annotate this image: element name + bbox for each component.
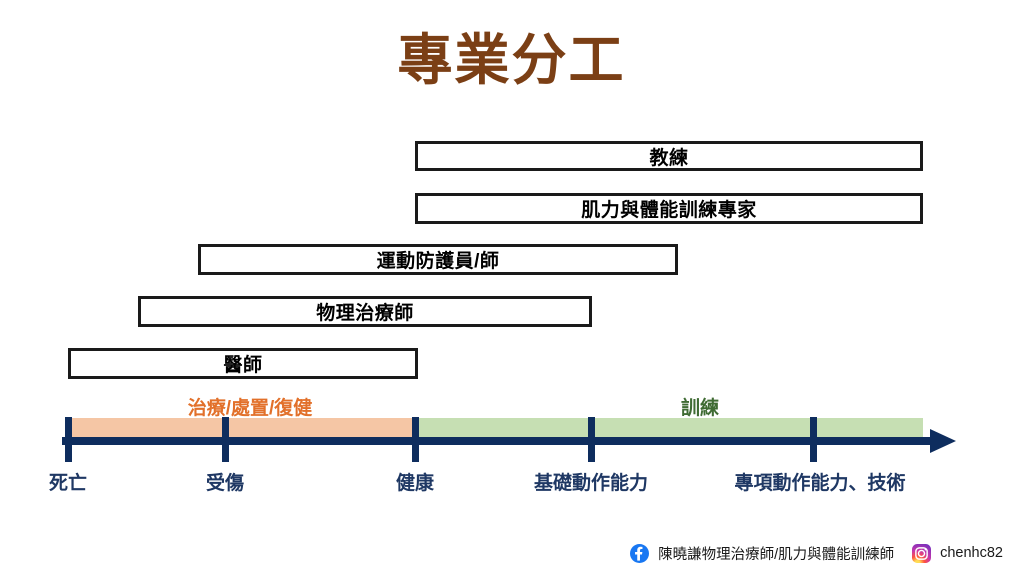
role-bar-label: 醫師: [223, 350, 262, 377]
phase-band-training: [415, 418, 923, 437]
timeline-tick-death: [65, 417, 72, 462]
timeline-label-injury: 受傷: [206, 468, 244, 495]
arrow-right-icon: [930, 429, 956, 453]
footer-account-instagram[interactable]: chenhc82: [912, 544, 1003, 563]
footer: 陳曉謙物理治療師/肌力與體能訓練師: [0, 538, 1023, 568]
timeline-tick-basic-movement: [588, 417, 595, 462]
page-title: 專業分工: [0, 30, 1023, 91]
timeline-label-sport-specific: 專項動作能力、技術: [734, 468, 905, 495]
role-bar-label: 肌力與體能訓練專家: [581, 195, 757, 222]
phase-band-treatment: [68, 418, 415, 437]
role-bar-strength-conditioning-specialist: 肌力與體能訓練專家: [415, 193, 923, 224]
role-bar-physical-therapist: 物理治療師: [138, 296, 592, 327]
timeline-label-basic-movement: 基礎動作能力: [534, 468, 648, 495]
footer-account-facebook[interactable]: 陳曉謙物理治療師/肌力與體能訓練師: [630, 543, 894, 564]
role-bar-physician: 醫師: [68, 348, 418, 379]
instagram-icon: [912, 544, 931, 563]
timeline-label-death: 死亡: [49, 468, 87, 495]
footer-account-handle: 陳曉謙物理治療師/肌力與體能訓練師: [658, 543, 894, 564]
timeline-tick-injury: [222, 417, 229, 462]
footer-account-handle: chenhc82: [940, 545, 1003, 561]
facebook-icon: [630, 544, 649, 563]
role-bar-label: 教練: [649, 143, 688, 170]
role-bar-label: 運動防護員/師: [377, 246, 500, 273]
timeline-tick-health: [412, 417, 419, 462]
timeline-tick-sport-specific: [810, 417, 817, 462]
slide-canvas: 專業分工 教練 肌力與體能訓練專家 運動防護員/師 物理治療師 醫師 治療/處置…: [0, 0, 1023, 574]
role-bar-athletic-trainer: 運動防護員/師: [198, 244, 678, 275]
continuum-timeline: [0, 405, 1023, 465]
role-bar-coach: 教練: [415, 141, 923, 171]
timeline-label-health: 健康: [396, 468, 434, 495]
role-bar-label: 物理治療師: [316, 298, 414, 325]
